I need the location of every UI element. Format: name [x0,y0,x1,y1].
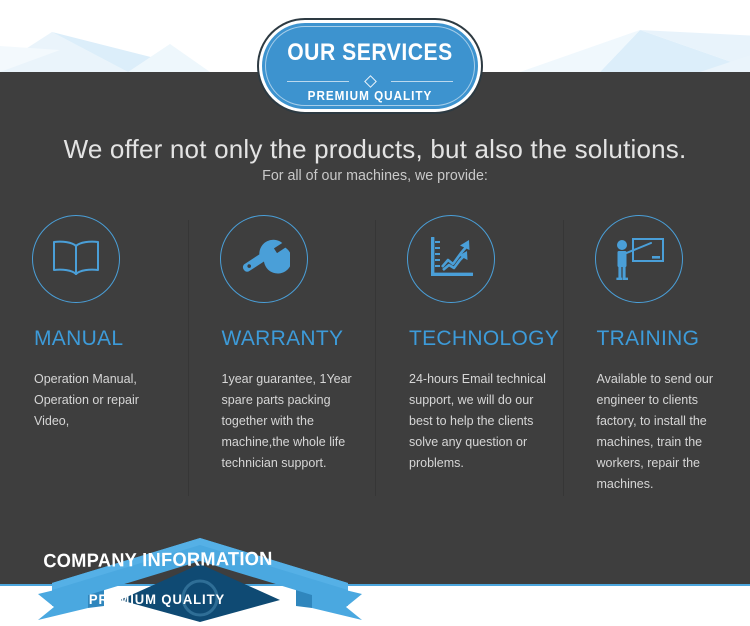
open-book-icon [32,215,120,303]
diamond-icon [364,75,377,88]
badge-title: OUR SERVICES [272,39,467,67]
service-column-warranty: WARRANTY 1year guarantee, 1Year spare pa… [188,206,376,506]
service-body: Operation Manual, Operation or repair Vi… [34,369,172,432]
service-title: MANUAL [34,327,174,351]
page-subheadline: For all of our machines, we provide: [19,167,732,184]
service-body: 24-hours Email technical support, we wil… [409,369,547,474]
service-column-training: TRAINING Available to send our engineer … [563,206,750,506]
company-information-ribbon: COMPANY INFORMATION PREMIUM QUALITY [0,528,420,626]
ribbon-shape [0,528,420,626]
service-title: TECHNOLOGY [409,327,549,351]
separator-line-left [287,81,349,82]
service-column-technology: TECHNOLOGY 24-hours Email technical supp… [375,206,563,506]
separator-line-right [391,81,453,82]
growth-chart-icon [407,215,495,303]
services-columns: MANUAL Operation Manual, Operation or re… [0,206,750,506]
wrench-icon [220,215,308,303]
badge-separator [287,77,453,86]
service-title: WARRANTY [222,327,362,351]
trainer-whiteboard-icon [595,215,683,303]
service-body: Available to send our engineer to client… [597,369,735,495]
services-page: OUR SERVICES PREMIUM QUALITY We offer no… [0,0,750,626]
badge-subtitle: PREMIUM QUALITY [270,88,470,103]
service-title: TRAINING [597,327,737,351]
page-headline: We offer not only the products, but also… [0,134,750,165]
service-column-manual: MANUAL Operation Manual, Operation or re… [0,206,188,506]
service-body: 1year guarantee, 1Year spare parts packi… [222,369,360,474]
our-services-badge: OUR SERVICES PREMIUM QUALITY [259,20,481,112]
